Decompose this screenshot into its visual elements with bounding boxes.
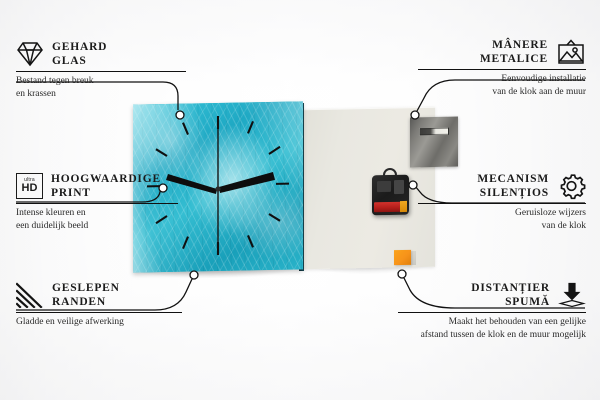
feature-title: MECANISM [477, 172, 549, 186]
feature-subtitle: Geruisloze wijzers [418, 207, 586, 220]
title-rule [418, 69, 586, 70]
feature-high-quality-print: ultra HD HOOGWAARDIGE PRINT Intense kleu… [16, 172, 198, 233]
feature-ground-edges: GESLEPEN RANDEN Gladde en veilige afwerk… [16, 281, 198, 329]
feature-subtitle-line2: afstand tussen de klok en de muur mogeli… [398, 329, 586, 342]
feature-title-line2: PRINT [51, 186, 161, 200]
gear-icon [557, 172, 586, 200]
feature-subtitle: Intense kleuren en [16, 207, 198, 220]
feature-subtitle-line2: van de klok [418, 220, 586, 233]
title-rule [398, 312, 586, 313]
feature-title: GEHARD [52, 40, 107, 54]
title-rule [16, 71, 186, 72]
endpoint-metal-handles [411, 111, 419, 119]
feature-title-line2: GLAS [52, 54, 107, 68]
feature-subtitle-line2: en krassen [16, 88, 196, 101]
feature-title-line2: SILENȚIOS [477, 186, 549, 200]
feature-metal-handles: MÂNERE METALICE Eenvoudige installatie v… [418, 38, 586, 99]
title-rule [418, 203, 586, 204]
feature-subtitle-line2: van de klok aan de muur [418, 86, 586, 99]
feature-tempered-glass: GEHARD GLAS Bestand tegen breuk en krass… [16, 40, 196, 101]
feature-subtitle: Maakt het behouden van een gelijke [398, 316, 586, 329]
ultra-hd-badge-icon: ultra HD [16, 173, 43, 199]
endpoint-foam-spacer [398, 270, 406, 278]
framed-picture-hook-icon [556, 39, 586, 66]
endpoint-ground-edges [190, 271, 198, 279]
feature-subtitle-line2: een duidelijk beeld [16, 220, 198, 233]
feature-title: GESLEPEN [52, 281, 120, 295]
ultra-hd-badge-big-text: HD [22, 183, 38, 194]
feature-title-line2: METALICE [480, 52, 548, 66]
feature-subtitle: Bestand tegen breuk [16, 75, 196, 88]
feature-subtitle: Eenvoudige installatie [418, 73, 586, 86]
feature-silent-mechanism: MECANISM SILENȚIOS Geruisloze wijzers va… [418, 172, 586, 233]
down-arrow-into-tray-icon [558, 282, 586, 308]
diamond-icon [16, 41, 44, 67]
diagonal-stripes-icon [16, 282, 44, 308]
feature-subtitle: Gladde en veilige afwerking [16, 316, 198, 329]
feature-title-line2: SPUMĂ [471, 295, 550, 309]
feature-title: MÂNERE [480, 38, 548, 52]
title-rule [16, 203, 178, 204]
endpoint-tempered-glass [176, 111, 184, 119]
infographic-canvas: GEHARD GLAS Bestand tegen breuk en krass… [0, 0, 600, 400]
feature-title: HOOGWAARDIGE [51, 172, 161, 186]
feature-title: DISTANȚIER [471, 281, 550, 295]
feature-title-line2: RANDEN [52, 295, 120, 309]
title-rule [16, 312, 182, 313]
endpoint-silent-mechanism [409, 181, 417, 189]
feature-foam-spacer: DISTANȚIER SPUMĂ Maakt het behouden van … [398, 281, 586, 342]
